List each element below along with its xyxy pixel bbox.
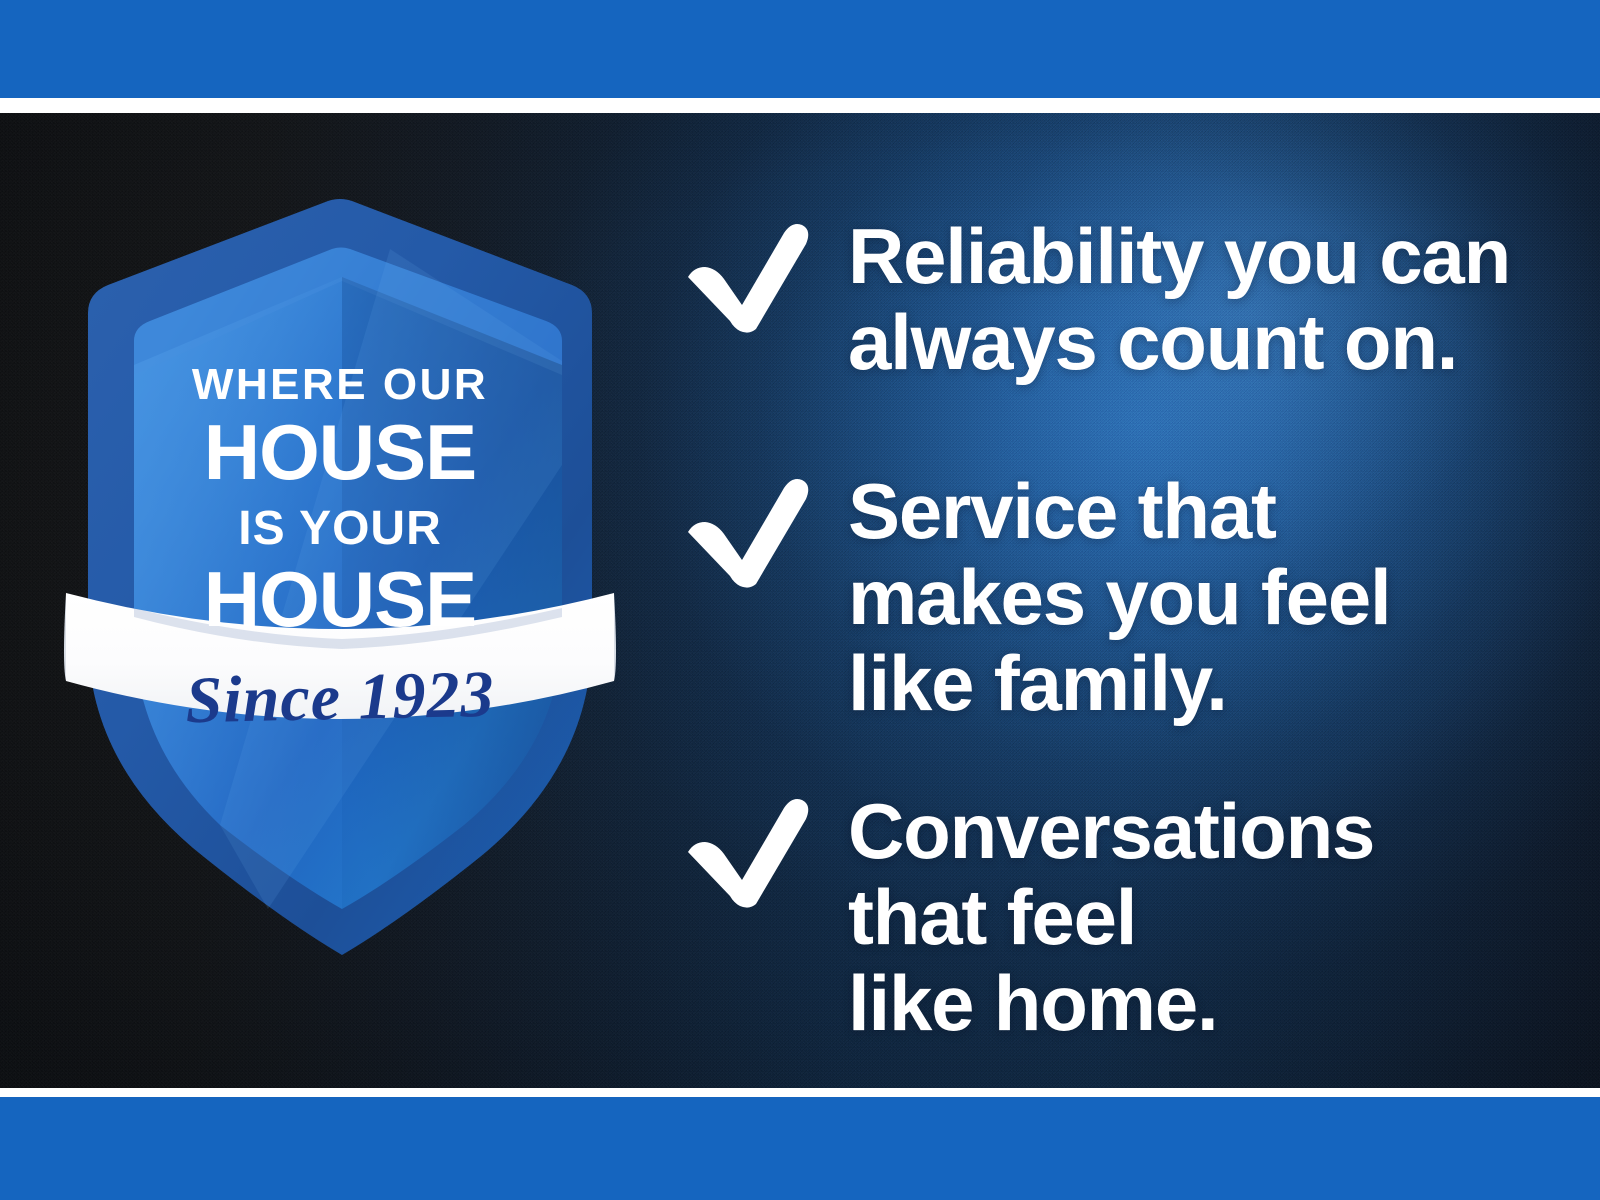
list-item: Service that makes you feel like family.	[672, 468, 1552, 726]
checkmark-icon	[672, 792, 812, 910]
ribbon-fold-right	[614, 593, 616, 681]
checkmark-icon	[672, 472, 812, 590]
ribbon-fold-left	[64, 593, 66, 681]
list-item-text: Conversations that feel like home.	[848, 788, 1374, 1046]
shield-badge: Where Our House Is Your House Since 1923	[60, 165, 620, 825]
benefits-list: Reliability you can always count on. Ser…	[672, 113, 1552, 1088]
list-item: Reliability you can always count on.	[672, 213, 1552, 385]
top-brand-bar	[0, 0, 1600, 98]
shield-graphic	[60, 165, 620, 825]
list-item: Conversations that feel like home.	[672, 788, 1552, 1046]
checkmark-icon	[672, 217, 812, 335]
bottom-brand-bar	[0, 1097, 1600, 1200]
list-item-text: Service that makes you feel like family.	[848, 468, 1391, 726]
list-item-text: Reliability you can always count on.	[848, 213, 1510, 385]
promotional-graphic: Where Our House Is Your House Since 1923…	[0, 0, 1600, 1200]
